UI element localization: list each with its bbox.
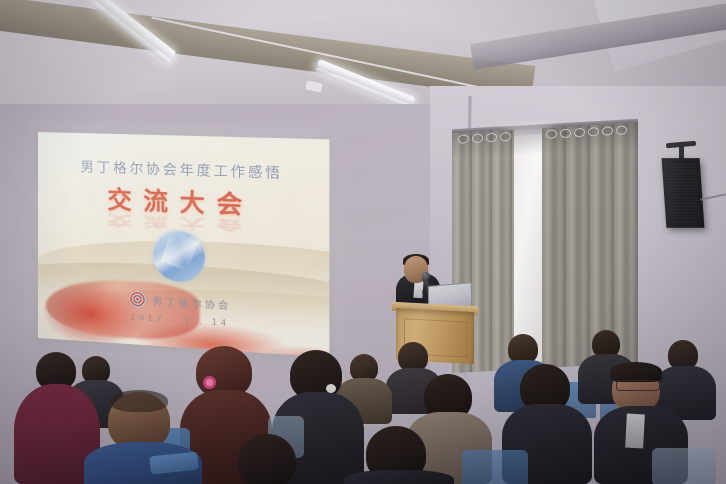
person-hair-short: [110, 390, 168, 412]
person-head: [238, 434, 296, 484]
wall-speaker-icon: [662, 158, 705, 228]
person-body: [344, 470, 454, 484]
audience-group: [0, 330, 726, 484]
conference-room-photo: 男丁格尔协会年度工作感悟 交流大会 交流大会 男丁格尔协会 2017 . 1 .…: [0, 0, 726, 484]
projection-screen[interactable]: 男丁格尔协会年度工作感悟 交流大会 交流大会 男丁格尔协会 2017 . 1 .…: [38, 132, 329, 357]
chair[interactable]: [652, 448, 716, 484]
glasses-icon: [616, 380, 660, 391]
shirt-collar: [625, 414, 645, 449]
flower-hairclip-icon: [203, 376, 216, 389]
person-hair: [610, 362, 662, 382]
hair-tie-icon: [326, 384, 336, 393]
chair[interactable]: [462, 450, 528, 484]
slide-organization-name: 男丁格尔协会: [152, 293, 231, 312]
microphone-capsule-icon: [422, 272, 430, 280]
association-logo-icon: [129, 290, 147, 308]
